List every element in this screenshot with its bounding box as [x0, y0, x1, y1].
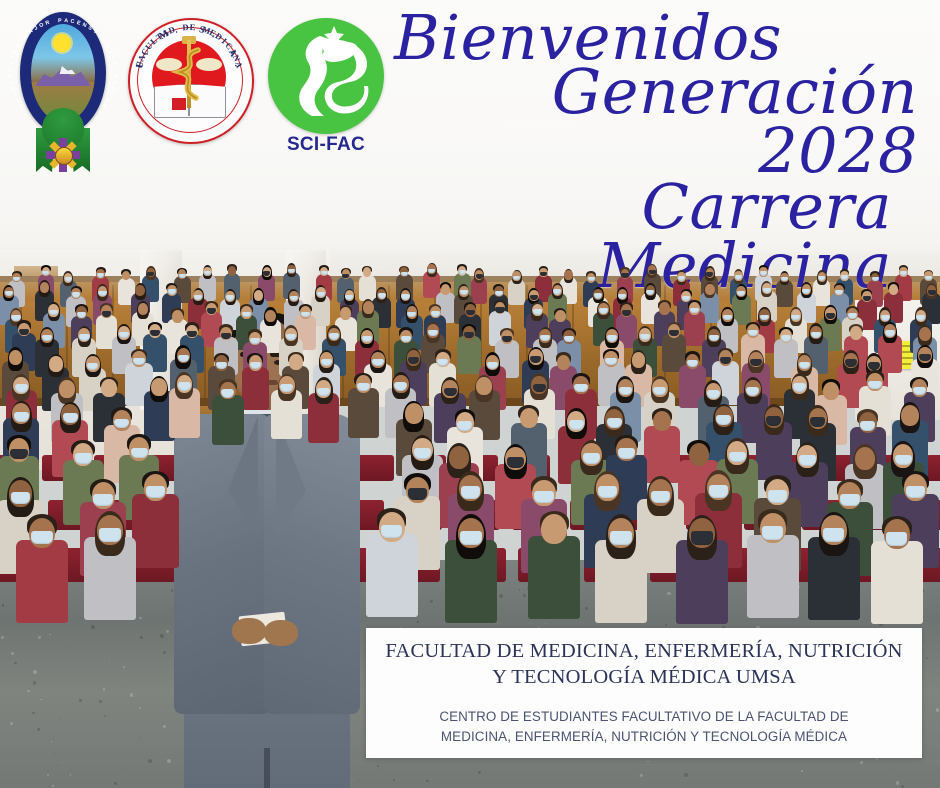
audience-member: [871, 517, 923, 630]
floor-speck: [684, 773, 688, 777]
audience-member-face-mask: [495, 291, 503, 296]
audience-member-face-mask: [707, 390, 720, 398]
audience-member: [366, 509, 418, 622]
seal-ring-character: .: [174, 26, 179, 36]
audience-member-head: [919, 327, 931, 341]
floor-speck: [499, 594, 503, 598]
audience-member-face-mask: [42, 335, 52, 341]
audience-member: [528, 512, 580, 625]
audience-member-head: [520, 408, 538, 429]
audience-member-face-mask: [534, 491, 553, 503]
audience-member-torso: [16, 540, 68, 623]
audience-member-face-mask: [459, 270, 466, 274]
floor-speck: [140, 636, 143, 639]
audience-member-face-mask: [533, 384, 546, 392]
seal-ring-character: S: [87, 25, 93, 32]
audience-member-head: [135, 285, 145, 296]
seal-ring-character: .: [141, 50, 151, 57]
audience-member-face-mask: [885, 330, 895, 336]
audience-member-face-mask: [886, 532, 908, 546]
audience-member-head: [49, 356, 63, 372]
seal-ring-character: U: [135, 61, 146, 70]
audience-member-face-mask: [928, 290, 936, 295]
audience-member-face-mask: [31, 531, 53, 545]
audience-member-face-mask: [729, 452, 746, 463]
audience-member-head: [363, 301, 374, 313]
seal-ring-character: [19, 38, 25, 43]
audience-member-face-mask: [444, 388, 457, 396]
seal-ring-character: D: [104, 43, 111, 49]
audience-member-face-mask: [317, 292, 325, 297]
audience-member: [132, 472, 178, 573]
audience-member-torso: [457, 336, 481, 374]
audience-member-head: [689, 443, 709, 466]
floor-speck: [38, 636, 41, 639]
audience-member-face-mask: [619, 387, 632, 395]
audience-member-head: [659, 302, 670, 314]
audience-member-face-mask: [583, 453, 600, 464]
audience-member-head: [9, 350, 23, 366]
audience-member-face-mask: [618, 448, 635, 459]
audience-member-face-mask: [530, 295, 538, 300]
audience-member-torso: [242, 367, 269, 411]
audience-member-face-mask: [737, 291, 745, 296]
audience-member-head: [340, 307, 351, 319]
audience-member-torso: [212, 395, 243, 445]
floor-speck: [519, 589, 520, 590]
audience-member: [808, 513, 860, 626]
audience-member-head: [172, 310, 183, 322]
audience-member-torso: [871, 541, 923, 624]
audience-member-face-mask: [378, 293, 386, 298]
audience-member-face-mask: [10, 449, 27, 460]
audience-member-face-mask: [651, 491, 670, 503]
audience-member-face-mask: [610, 531, 632, 545]
caption-heading-line2: Y TECNOLOGÍA MÉDICA UMSA: [385, 665, 902, 691]
audience-member-head: [850, 326, 862, 340]
umsa-medal-center: [55, 147, 73, 165]
welcome-poster: UNIVERSITAS MAJOR PACENSIS DIVI ANDREÆ: [0, 0, 940, 788]
audience-member-face-mask: [221, 333, 231, 339]
audience-member: [747, 510, 799, 623]
audience-member: [169, 373, 200, 441]
audience-member-torso: [366, 534, 418, 617]
audience-member-face-mask: [178, 382, 191, 390]
floor-speck: [936, 708, 939, 711]
audience-member-face-mask: [872, 277, 879, 281]
audience-member-face-mask: [766, 416, 781, 426]
caption-sub-line1: CENTRO DE ESTUDIANTES FACULTATIVO DE LA …: [439, 707, 848, 727]
audience-member-face-mask: [401, 294, 409, 299]
floor-speck: [10, 722, 13, 725]
floor-speck: [40, 699, 41, 700]
audience-member: [16, 515, 68, 628]
floor-speck: [647, 761, 648, 762]
audience-member: [676, 516, 728, 629]
audience-member-head: [289, 354, 303, 370]
audience-member-face-mask: [178, 355, 189, 362]
sci-fac-emblem-icon: [268, 18, 384, 134]
audience-member-face-mask: [401, 272, 408, 276]
audience-member-face-mask: [919, 354, 930, 361]
seal-ring-character: S: [15, 43, 22, 49]
audience-member-face-mask: [607, 418, 622, 428]
audience-member-head: [151, 378, 167, 396]
floor-speck: [59, 718, 60, 719]
audience-member-head: [823, 382, 839, 400]
floor-speck: [393, 779, 395, 781]
audience-member-face-mask: [845, 359, 856, 366]
audience-member-head: [228, 266, 236, 276]
audience-member-face-mask: [11, 492, 30, 504]
audience-member-face-mask: [19, 329, 29, 335]
audience-member-face-mask: [621, 273, 628, 277]
floor-speck: [148, 759, 152, 763]
seal-ring-character: .: [210, 31, 217, 41]
audience-member-head: [265, 310, 276, 322]
seal-ring-character: A: [64, 18, 68, 24]
audience-member-face-mask: [15, 384, 28, 392]
floor-speck: [896, 781, 900, 785]
man-hand-left: [232, 618, 266, 644]
seal-ring-character: P: [58, 18, 62, 24]
facultad-de-medicina-seal: FACULTAD DE MEDICINA U. M. S. A.: [128, 18, 250, 140]
seal-ring-character: E: [9, 80, 16, 85]
seal-ring-character: I: [93, 29, 98, 35]
audience-member-face-mask: [77, 312, 86, 318]
audience-member-torso: [747, 535, 799, 618]
audience-member-face-mask: [768, 490, 787, 502]
audience-member-face-mask: [823, 528, 845, 542]
sci-fac-logo: SCI-FAC: [268, 18, 384, 158]
audience-member: [212, 380, 243, 448]
floor-speck: [139, 707, 141, 709]
audience-member-face-mask: [763, 288, 771, 293]
seal-ring-character: D: [109, 86, 116, 92]
audience-member-head: [555, 310, 566, 322]
audience-member-face-mask: [735, 275, 742, 279]
audience-member-face-mask: [321, 271, 328, 275]
floor-speck: [130, 693, 133, 696]
audience-member-face-mask: [881, 315, 890, 321]
audience-member-face-mask: [329, 333, 339, 339]
audience-member-face-mask: [605, 358, 616, 365]
floor-speck: [32, 712, 35, 715]
seal-ring-character: V: [10, 86, 17, 91]
audience-member-face-mask: [131, 448, 148, 459]
audience-member-face-mask: [569, 420, 584, 430]
audience-member: [271, 375, 302, 443]
audience-member-face-mask: [691, 531, 713, 545]
audience-member-face-mask: [187, 331, 197, 337]
floor-speck: [665, 624, 667, 626]
audience-member-face-mask: [750, 359, 761, 366]
audience-member-face-mask: [179, 274, 186, 278]
floor-speck: [70, 774, 72, 776]
man-trouser-seam: [264, 748, 270, 788]
poster-title: Bienvenidos Generación 2028 Carrera Medi…: [392, 8, 932, 296]
seal-ring-character: R: [45, 20, 51, 27]
medicina-umsa-text: U. M. S. A.: [128, 18, 250, 140]
floor-speck: [70, 646, 71, 647]
audience-member-face-mask: [925, 276, 932, 280]
audience-member-face-mask: [709, 335, 719, 341]
audience-member-head: [557, 355, 571, 371]
audience-member-face-mask: [65, 277, 72, 281]
seal-ring-character: [101, 38, 107, 43]
floor-speck: [163, 725, 165, 727]
floor-speck: [49, 634, 50, 635]
audience-member: [445, 515, 497, 628]
audience-member: [308, 378, 339, 446]
audience-member-face-mask: [495, 307, 504, 313]
seal-ring-character: [188, 24, 190, 34]
floor-speck: [860, 761, 863, 764]
seal-ring-character: R: [8, 74, 14, 78]
audience-member-torso: [132, 494, 178, 568]
audience-member-face-mask: [840, 494, 859, 506]
audience-member-face-mask: [226, 295, 234, 300]
seal-ring-character: I: [13, 92, 19, 96]
audience-member-face-mask: [146, 486, 165, 498]
audience-member-face-mask: [414, 448, 431, 459]
floor-speck: [11, 652, 14, 655]
audience-member-face-mask: [168, 289, 176, 294]
sci-fac-label: SCI-FAC: [268, 134, 384, 156]
audience-member: [242, 354, 269, 413]
audience-member-face-mask: [709, 485, 728, 497]
audience-member-face-mask: [507, 457, 524, 468]
audience-member-face-mask: [401, 336, 411, 342]
seal-ring-character: S: [198, 25, 206, 36]
audience-member-face-mask: [900, 271, 907, 275]
audience-member: [84, 512, 136, 625]
audience-member-face-mask: [75, 453, 92, 464]
seal-ring-character: S: [96, 33, 103, 40]
seal-ring-character: .: [232, 63, 242, 68]
title-line-generacion: Generación 2028: [392, 62, 932, 181]
audience-member-face-mask: [381, 525, 403, 539]
audience-member-face-mask: [460, 531, 482, 545]
audience-member-torso: [528, 536, 580, 619]
floor-speck: [51, 741, 52, 742]
audience-member-head: [59, 380, 75, 398]
audience-member-face-mask: [860, 421, 875, 431]
audience-member-face-mask: [194, 295, 202, 300]
floor-speck: [27, 690, 29, 692]
seal-ring-character: M: [158, 29, 171, 42]
audience-member-face-mask: [716, 415, 731, 425]
audience-member-face-mask: [11, 315, 20, 321]
audience-member-face-mask: [461, 486, 480, 498]
audience-member-face-mask: [622, 310, 631, 316]
audience-member-face-mask: [848, 313, 857, 319]
audience-member-face-mask: [93, 494, 112, 506]
seal-ring-character: J: [33, 25, 39, 32]
seal-ring-character: O: [39, 22, 45, 29]
audience-member-face-mask: [98, 291, 106, 296]
audience-member-head: [632, 352, 646, 368]
audience-member-face-mask: [762, 526, 784, 540]
man-hand-right: [264, 620, 298, 646]
audience-member-head: [653, 411, 671, 432]
audience-member-face-mask: [464, 332, 474, 338]
audience-member-face-mask: [102, 311, 111, 317]
audience-member-face-mask: [649, 270, 656, 274]
seal-ring-character: A: [12, 49, 19, 55]
audience-member: [776, 272, 793, 309]
floor-speck: [523, 594, 526, 597]
audience-member-face-mask: [760, 271, 767, 275]
floor-speck: [99, 700, 102, 703]
seal-ring-character: [150, 39, 159, 48]
floor-speck: [47, 774, 49, 776]
audience-member: [348, 374, 379, 442]
audience-member-torso: [348, 388, 379, 438]
audience-member-head: [449, 446, 469, 469]
audience-member-face-mask: [290, 296, 298, 301]
umsa-medal-icon: [46, 138, 80, 172]
audience-member-face-mask: [802, 289, 810, 294]
seal-ring-character: A: [226, 48, 238, 59]
audience-member-face-mask: [799, 455, 816, 466]
audience-member-head: [138, 303, 149, 315]
seal-ring-character: [52, 19, 55, 25]
floor-speck: [377, 765, 379, 767]
caption-sub-line2: MEDICINA, ENFERMERÍA, NUTRICIÓN Y TECNOL…: [439, 727, 848, 747]
audience-member-face-mask: [868, 362, 879, 369]
floor-speck: [585, 607, 588, 610]
floor-speck: [139, 617, 141, 619]
seal-ring-character: S: [8, 68, 14, 72]
audience-member-head: [541, 514, 567, 544]
audience-member-face-mask: [14, 412, 29, 422]
floor-speck: [123, 666, 125, 668]
audience-member-head: [405, 403, 423, 424]
floor-speck: [109, 662, 110, 663]
seal-ring-character: [220, 39, 229, 48]
audience-member-head: [901, 405, 919, 426]
floor-speck: [801, 770, 802, 771]
floor-speck: [167, 759, 171, 763]
audience-member-head: [101, 379, 117, 397]
audience-member-head: [855, 447, 875, 470]
caption-box: FACULTAD DE MEDICINA, ENFERMERÍA, NUTRIC…: [366, 628, 922, 758]
caption-heading: FACULTAD DE MEDICINA, ENFERMERÍA, NUTRIC…: [385, 639, 902, 691]
audience-member-head: [705, 284, 715, 295]
audience-member-face-mask: [598, 486, 617, 498]
audience-member-face-mask: [408, 488, 427, 500]
audience-member-face-mask: [99, 528, 121, 542]
seal-ring-character: A: [112, 74, 118, 78]
umsa-university-seal: UNIVERSITAS MAJOR PACENSIS DIVI ANDREÆ: [14, 12, 112, 180]
audience-member-face-mask: [476, 274, 483, 278]
audience-member-face-mask: [599, 308, 608, 314]
audience-member-head: [564, 270, 572, 280]
seal-ring-character: U: [18, 102, 25, 109]
floor-speck: [33, 681, 36, 684]
audience-member-face-mask: [372, 359, 383, 366]
audience-member: [457, 325, 481, 377]
audience-member-face-mask: [895, 455, 912, 466]
audience-member-head: [254, 290, 264, 301]
audience-member-face-mask: [431, 311, 440, 317]
audience-member-face-mask: [810, 417, 825, 427]
audience-member: [595, 515, 647, 628]
audience-member-head: [476, 377, 492, 395]
audience-member-head: [40, 282, 50, 293]
audience-member-face-mask: [906, 486, 925, 498]
audience-member-face-mask: [457, 421, 472, 431]
caption-subheading: CENTRO DE ESTUDIANTES FACULTATIVO DE LA …: [439, 707, 848, 747]
audience-member-torso: [644, 426, 680, 484]
floor-speck: [876, 758, 878, 760]
floor-speck: [160, 634, 164, 638]
seal-ring-character: E: [76, 20, 81, 27]
caption-heading-line1: FACULTAD DE MEDICINA, ENFERMERÍA, NUTRIC…: [385, 639, 902, 665]
audience-member-face-mask: [133, 358, 144, 365]
audience-member-face-mask: [63, 413, 78, 423]
seal-ring-character: N: [81, 22, 87, 29]
seal-ring-character: N: [111, 80, 118, 85]
sci-fac-green-circle: [268, 18, 384, 134]
audience-member-face-mask: [594, 293, 602, 298]
seal-ring-character: C: [70, 19, 75, 26]
audience-member-face-mask: [574, 384, 587, 392]
audience-member-face-mask: [868, 381, 881, 389]
audience-member-face-mask: [79, 334, 89, 340]
audience-member-face-mask: [826, 313, 835, 319]
